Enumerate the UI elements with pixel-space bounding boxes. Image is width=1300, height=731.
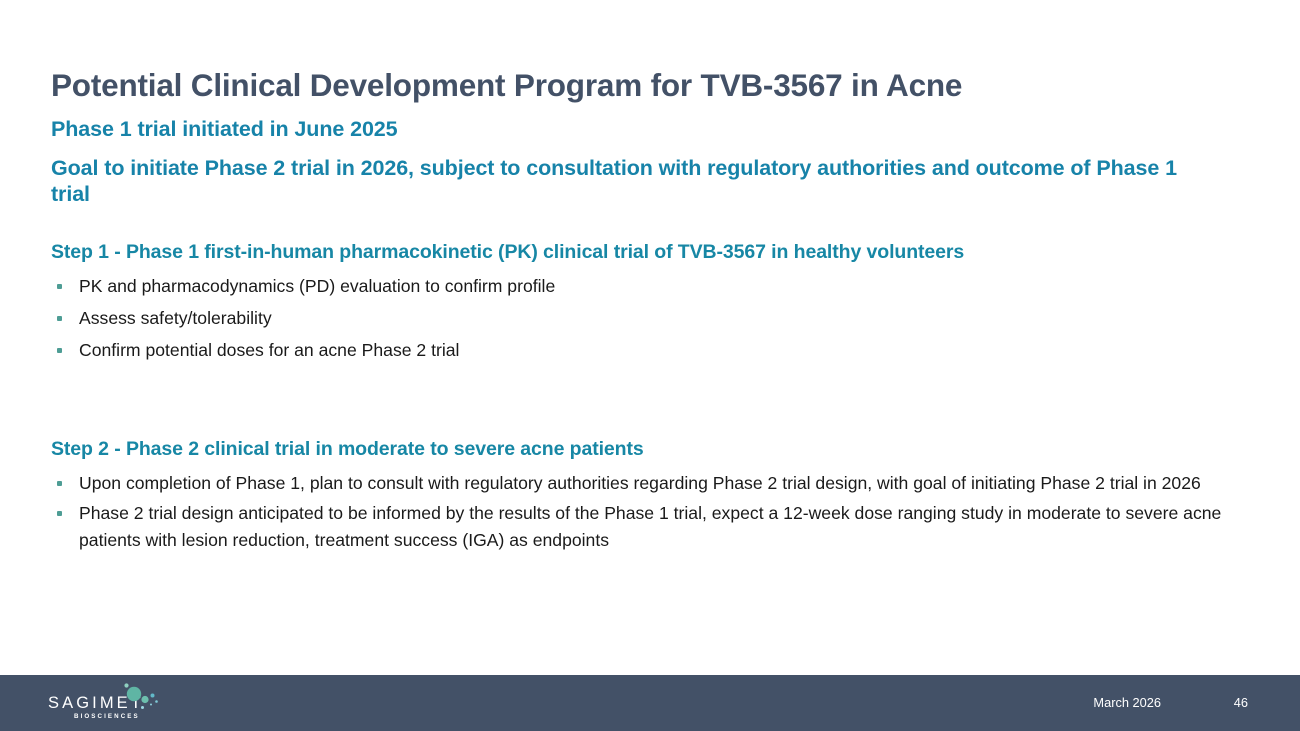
sagimet-logo: SAGIMET BIOSCIENCES	[48, 685, 168, 725]
list-item: PK and pharmacodynamics (PD) evaluation …	[51, 273, 1231, 300]
list-item-label: Phase 2 trial design anticipated to be i…	[79, 503, 1221, 550]
bullet-list-step-1: PK and pharmacodynamics (PD) evaluation …	[51, 273, 1231, 363]
list-item: Phase 2 trial design anticipated to be i…	[51, 500, 1231, 553]
lead-statement-2: Goal to initiate Phase 2 trial in 2026, …	[51, 156, 1181, 207]
section-heading-step-1: Step 1 - Phase 1 first-in-human pharmaco…	[51, 241, 1231, 264]
list-item: Upon completion of Phase 1, plan to cons…	[51, 470, 1231, 497]
slide: Potential Clinical Development Program f…	[0, 0, 1300, 731]
footer-page-number: 46	[1234, 695, 1248, 710]
lead-statements: Phase 1 trial initiated in June 2025 Goa…	[51, 117, 1181, 207]
bullet-dot-icon	[57, 284, 62, 289]
list-item-label: Confirm potential doses for an acne Phas…	[79, 340, 459, 360]
list-item: Assess safety/tolerability	[51, 305, 1231, 332]
section-step-1: Step 1 - Phase 1 first-in-human pharmaco…	[51, 241, 1231, 369]
bullet-list-step-2: Upon completion of Phase 1, plan to cons…	[51, 470, 1231, 553]
bullet-dot-icon	[57, 481, 62, 486]
section-step-2: Step 2 - Phase 2 clinical trial in moder…	[51, 438, 1231, 557]
logo-dot-cluster-icon	[118, 681, 164, 709]
list-item: Confirm potential doses for an acne Phas…	[51, 337, 1231, 364]
page-title: Potential Clinical Development Program f…	[51, 67, 1231, 103]
section-heading-step-2: Step 2 - Phase 2 clinical trial in moder…	[51, 438, 1231, 461]
list-item-label: PK and pharmacodynamics (PD) evaluation …	[79, 276, 555, 296]
bullet-dot-icon	[57, 348, 62, 353]
bullet-dot-icon	[57, 316, 62, 321]
bullet-dot-icon	[57, 511, 62, 516]
logo-tagline: BIOSCIENCES	[74, 713, 140, 720]
footer-date: March 2026	[1093, 695, 1161, 710]
lead-statement-1: Phase 1 trial initiated in June 2025	[51, 117, 1181, 142]
list-item-label: Upon completion of Phase 1, plan to cons…	[79, 473, 1201, 493]
list-item-label: Assess safety/tolerability	[79, 308, 272, 328]
